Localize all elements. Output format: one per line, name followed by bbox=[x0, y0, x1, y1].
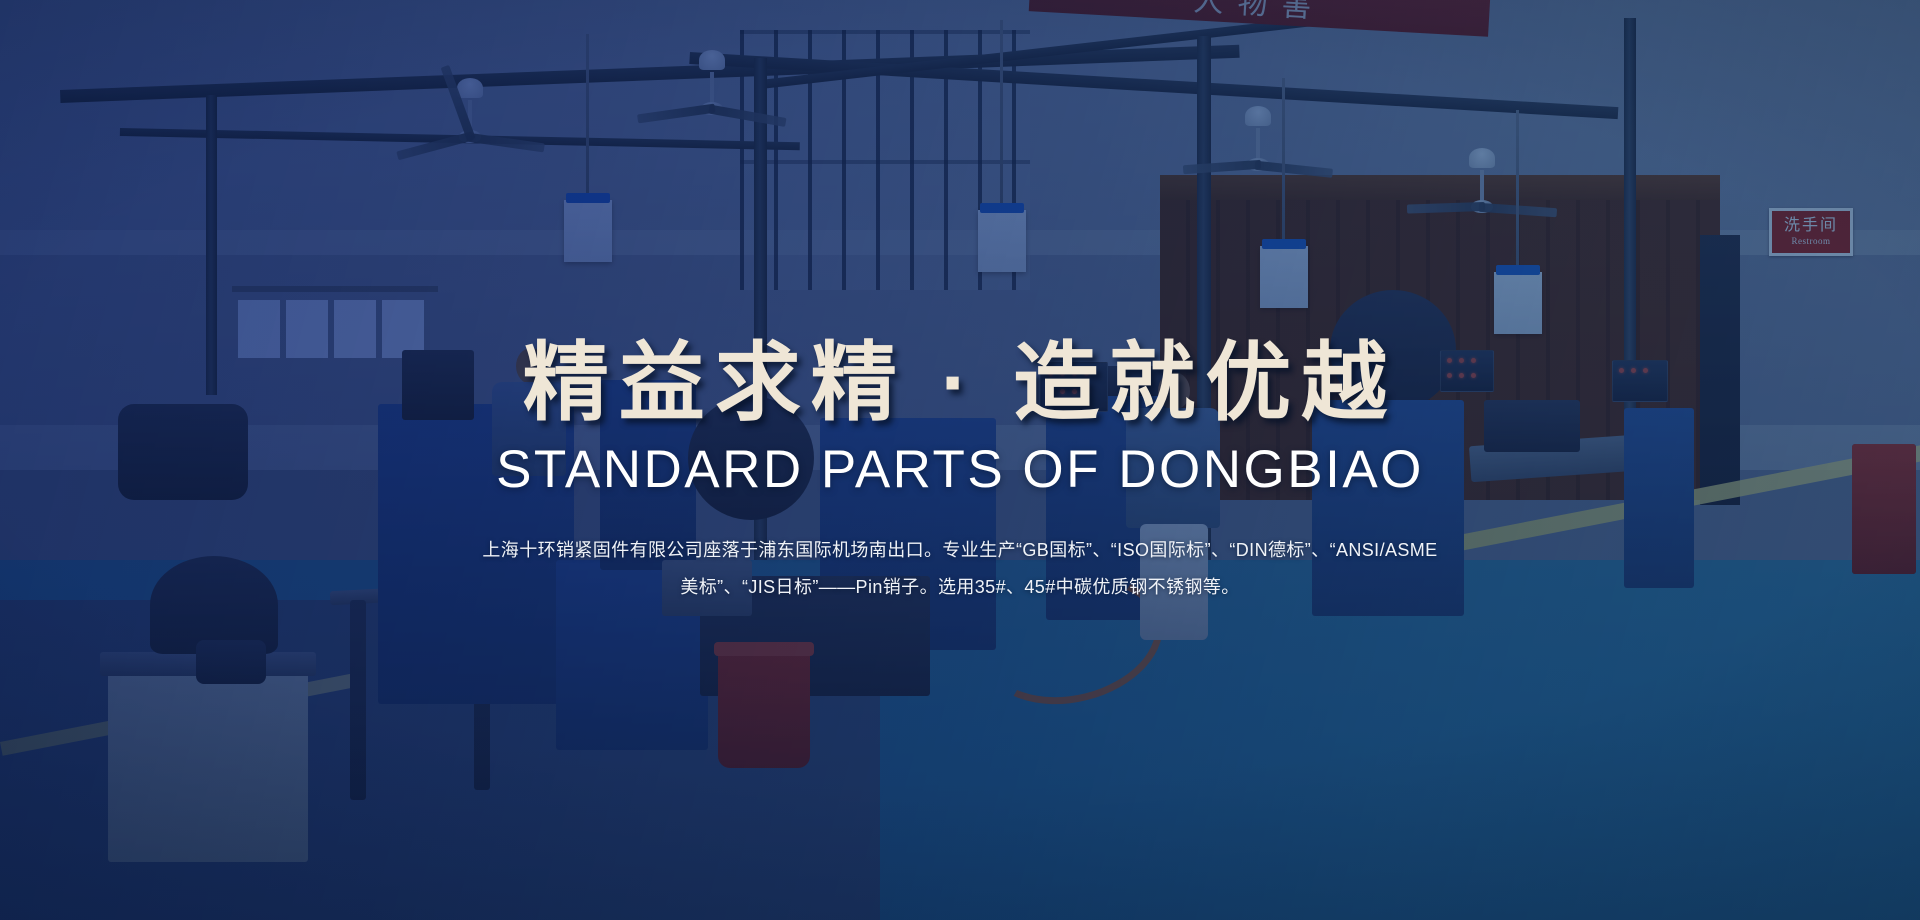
hero-banner: 人物害 洗手间 Restroom 精益求精 · 造就优越 STANDARD PA… bbox=[0, 0, 1920, 920]
hero-text-block: 精益求精 · 造就优越 STANDARD PARTS OF DONGBIAO 上… bbox=[0, 0, 1920, 920]
hero-headline-cn: 精益求精 · 造就优越 bbox=[523, 338, 1397, 428]
hero-subheadline-en: STANDARD PARTS OF DONGBIAO bbox=[496, 442, 1424, 498]
hero-description: 上海十环销紧固件有限公司座落于浦东国际机场南出口。专业生产“GB国标”、“ISO… bbox=[480, 532, 1440, 606]
